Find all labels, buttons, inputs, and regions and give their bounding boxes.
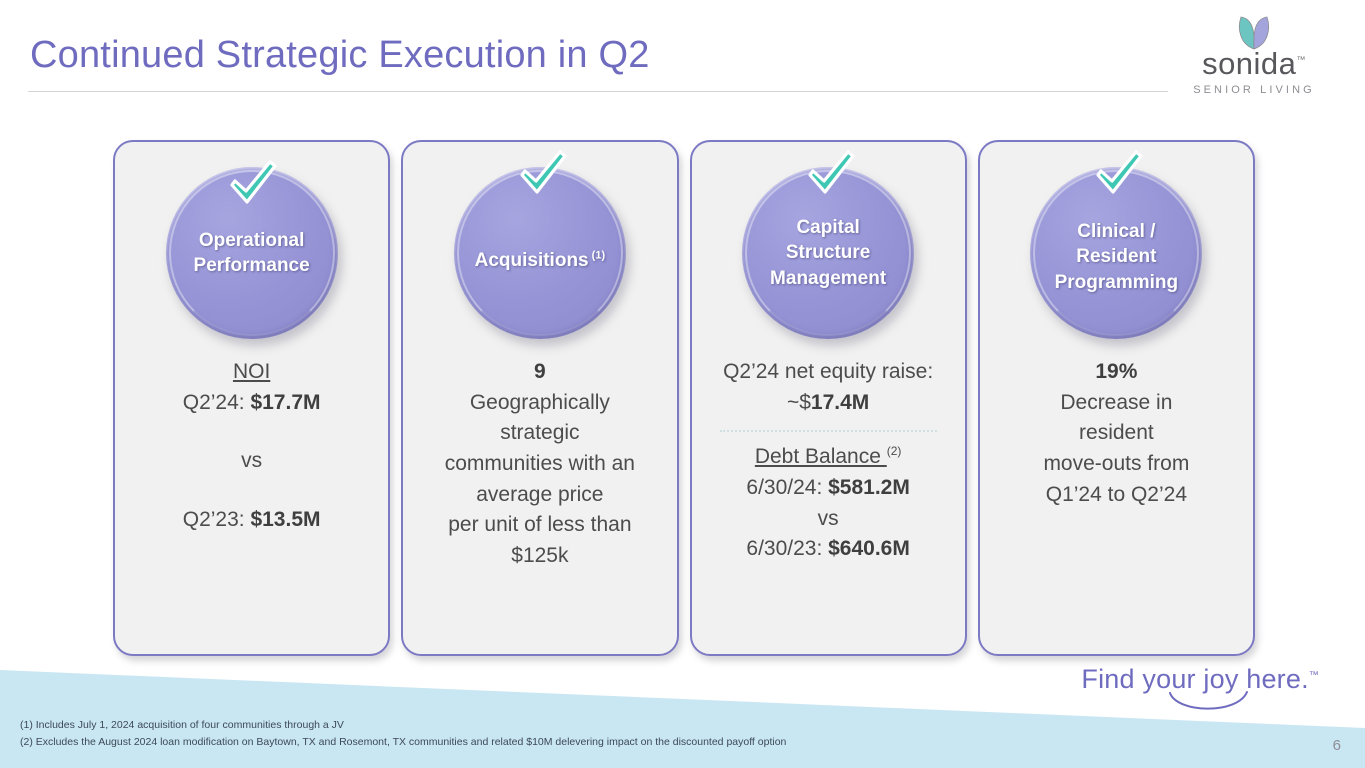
card-subheading: NOI <box>125 357 378 388</box>
footnote-marker: (2) <box>887 444 902 458</box>
logo-wordmark-text: sonida <box>1202 46 1296 81</box>
metric-label: 6/30/23: <box>746 537 828 560</box>
tagline-trademark: ™ <box>1309 670 1319 681</box>
footnotes: (1) Includes July 1, 2024 acquisition of… <box>20 717 786 750</box>
footnote-1: (1) Includes July 1, 2024 acquisition of… <box>20 717 786 733</box>
title-divider <box>28 91 1168 92</box>
metric-row: Q2’24: $17.7M <box>125 388 378 419</box>
card-text: vs <box>702 504 955 535</box>
category-badge: Capital Structure Management <box>742 167 914 339</box>
card-text: Q2’24 net equity raise: <box>702 357 955 388</box>
footnote-2: (2) Excludes the August 2024 loan modifi… <box>20 734 786 750</box>
badge-container: Operational Performance <box>115 142 388 357</box>
metric-row: 6/30/24: $581.2M <box>702 473 955 504</box>
highlight-card: Clinical / Resident Programming19%Decrea… <box>978 140 1255 656</box>
metric-value: $13.5M <box>250 508 320 531</box>
metric-label: ~$ <box>787 391 811 414</box>
highlight-card: Acquisitions (1)9Geographically strategi… <box>401 140 678 656</box>
category-badge: Operational Performance <box>166 167 338 339</box>
leaf-icon <box>1231 12 1277 50</box>
metric-row: Q2’23: $13.5M <box>125 505 378 536</box>
metric-value: $640.6M <box>828 537 910 560</box>
check-icon <box>513 145 571 203</box>
metric-value: $581.2M <box>828 476 910 499</box>
metric-row: 6/30/23: $640.6M <box>702 534 955 565</box>
badge-label: Clinical / Resident Programming <box>1047 219 1187 295</box>
badge-container: Capital Structure Management <box>692 142 965 357</box>
metric-value: $17.7M <box>250 391 320 414</box>
card-text: Decrease in resident move-outs from Q1’2… <box>990 388 1243 511</box>
sonida-logo: sonida™ SENIOR LIVING <box>1179 12 1329 98</box>
metric-value: 19% <box>990 357 1243 388</box>
badge-label: Capital Structure Management <box>762 215 894 291</box>
card-subheading-text: NOI <box>233 360 270 383</box>
card-text: Geographically strategic communities wit… <box>413 388 666 572</box>
metric-row: ~$17.4M <box>702 388 955 419</box>
badge-label: Operational Performance <box>186 228 318 279</box>
page-number: 6 <box>1333 737 1341 754</box>
card-body: 9Geographically strategic communities wi… <box>403 357 676 572</box>
logo-wordmark: sonida™ <box>1179 48 1329 79</box>
badge-container: Acquisitions (1) <box>403 142 676 357</box>
badge-container: Clinical / Resident Programming <box>980 142 1253 357</box>
check-icon <box>223 155 281 213</box>
highlight-card: Operational PerformanceNOIQ2’24: $17.7Mv… <box>113 140 390 656</box>
logo-subtitle: SENIOR LIVING <box>1179 84 1329 96</box>
badge-footnote-marker: (1) <box>589 250 606 262</box>
page-title: Continued Strategic Execution in Q2 <box>30 34 650 77</box>
card-body: 19%Decrease in resident move-outs from Q… <box>980 357 1253 510</box>
logo-trademark: ™ <box>1296 55 1306 65</box>
section-divider <box>720 430 937 432</box>
highlight-cards: Operational PerformanceNOIQ2’24: $17.7Mv… <box>113 140 1255 656</box>
metric-label: 6/30/24: <box>746 476 828 499</box>
tagline: Find your joy here.™ <box>1079 664 1319 720</box>
smile-swoosh-icon <box>1167 691 1251 717</box>
highlight-card: Capital Structure ManagementQ2’24 net eq… <box>690 140 967 656</box>
badge-label: Acquisitions (1) <box>467 248 614 273</box>
spacer <box>125 418 378 446</box>
check-icon <box>1089 145 1147 203</box>
card-text: vs <box>125 446 378 477</box>
spacer <box>125 477 378 505</box>
card-body: Q2’24 net equity raise:~$17.4MDebt Balan… <box>692 357 965 565</box>
tagline-label: Find your joy here. <box>1081 664 1308 694</box>
metric-value: 17.4M <box>811 391 869 414</box>
metric-label: Q2’24: <box>183 391 251 414</box>
card-subheading: Debt Balance (2) <box>702 442 955 473</box>
metric-label: Q2’23: <box>183 508 251 531</box>
category-badge: Acquisitions (1) <box>454 167 626 339</box>
metric-value: 9 <box>413 357 666 388</box>
check-icon <box>801 145 859 203</box>
card-subheading-text: Debt Balance <box>755 445 887 468</box>
category-badge: Clinical / Resident Programming <box>1030 167 1202 339</box>
card-body: NOIQ2’24: $17.7MvsQ2’23: $13.5M <box>115 357 388 536</box>
